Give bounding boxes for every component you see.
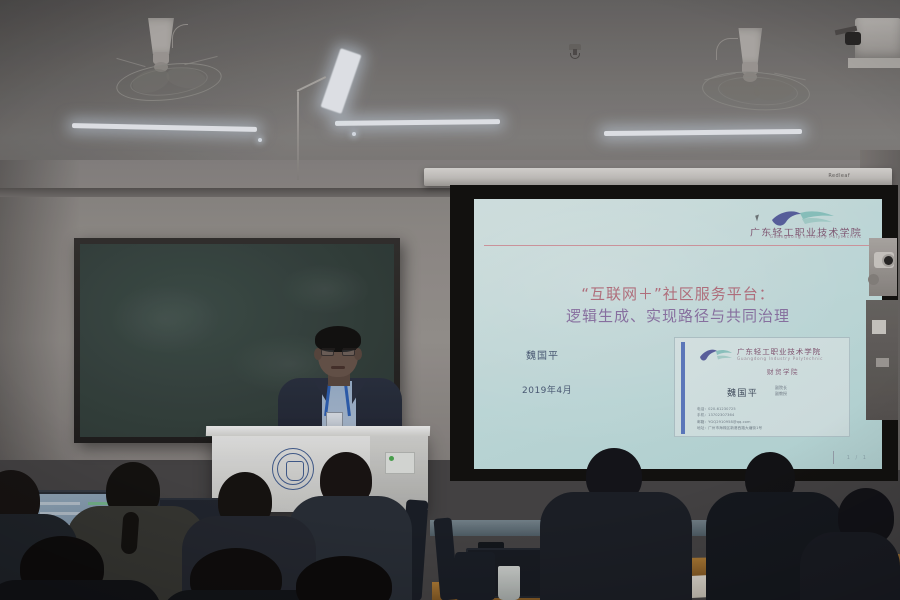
- projection-screen-housing: Redleaf: [424, 168, 892, 186]
- microphone-cable: [297, 92, 299, 180]
- chair-back: [455, 552, 495, 600]
- ceiling-fan: [110, 18, 240, 114]
- card-contact-address: 地址：广州市海珠区新港西路大塘街1号: [697, 425, 762, 431]
- presenter-lapel-right: [352, 378, 368, 404]
- slide-page-accent: [833, 451, 835, 464]
- projector-mount-plate: [848, 58, 900, 68]
- light-reflection: [258, 138, 262, 142]
- lectern-top-surface: [206, 426, 430, 436]
- slide-author-name: 魏国平: [526, 347, 559, 362]
- slide-date: 2019年4月: [522, 383, 572, 396]
- light-reflection: [352, 132, 356, 136]
- card-swoosh-icon: [699, 348, 733, 365]
- wall-switch[interactable]: [876, 358, 889, 367]
- card-department: 财贸学院: [767, 366, 799, 376]
- university-seal-emblem: [272, 448, 314, 490]
- wall-left-shadow: [0, 160, 80, 460]
- presentation-slide: 广东轻工职业技术学院 Guangdong Industry Polytechni…: [474, 199, 882, 469]
- slide-header-logo: 广东轻工职业技术学院 Guangdong Industry Polytechni…: [716, 209, 866, 243]
- lecture-hall-scene: Redleaf 广东轻工职业技术学院 Guangdong Industry Po…: [0, 0, 900, 600]
- fire-sprinkler: [568, 44, 582, 60]
- presenter-mouth: [331, 366, 345, 369]
- ceiling-projector: [855, 18, 900, 62]
- camera-lens-icon: [884, 256, 893, 265]
- ceiling-wall-edge: [0, 188, 470, 197]
- ponytail: [121, 511, 140, 554]
- card-person-role: 副院长 副教授: [775, 385, 787, 397]
- projector-lens: [845, 32, 861, 45]
- slide-title-line-2: 逻辑生成、实现路径与共同治理: [474, 305, 882, 326]
- card-school-name-en: Guangdong Industry Polytechnic: [737, 356, 823, 361]
- slide-page-number: 1 / 1: [847, 455, 868, 461]
- camera-mount-knob: [868, 274, 879, 285]
- slide-title-line-1: “互联网＋”社区服务平台：: [474, 283, 882, 304]
- slide-school-name-en: Guangdong Industry Polytechnic: [770, 235, 862, 240]
- slide-divider-rule: [484, 245, 876, 246]
- card-contact-block: 电话：020-61230725 手机：13702307364 邮箱：YGQ291…: [697, 406, 762, 431]
- wall-notice-card: [872, 320, 886, 334]
- card-role-line-2: 副教授: [775, 391, 787, 397]
- card-accent-bar: [681, 342, 685, 434]
- ceiling-fan: [698, 24, 828, 120]
- slide-business-card: 广东轻工职业技术学院 Guangdong Industry Polytechni…: [674, 337, 850, 437]
- screen-brand-label: Redleaf: [828, 173, 850, 179]
- eyeglasses-icon: [321, 349, 355, 356]
- card-person-name: 魏国平: [727, 386, 758, 399]
- podium-status-led: [389, 456, 394, 461]
- drink-cup[interactable]: [498, 566, 520, 600]
